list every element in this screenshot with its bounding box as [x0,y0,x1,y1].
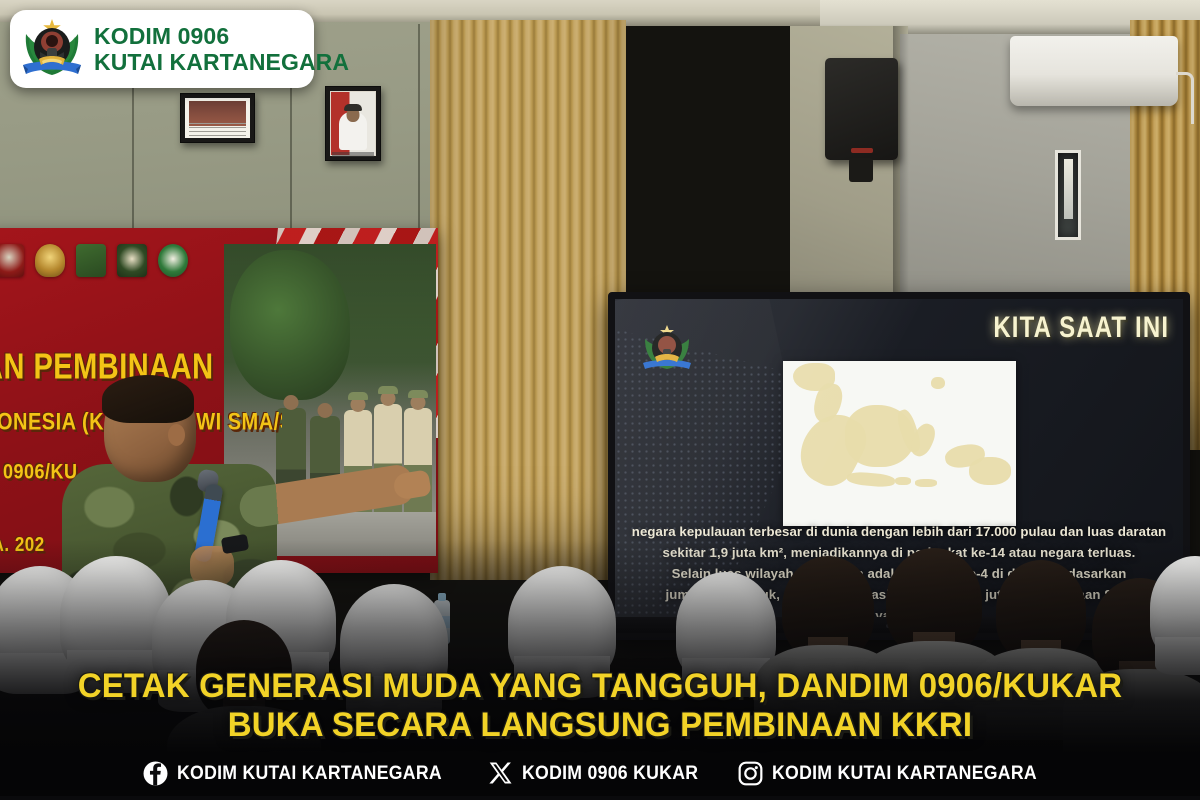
pemkab-logo-icon [158,244,188,277]
slide-title: KITA SAAT INI [993,311,1169,345]
headline-line-1: CETAK GENERASI MUDA YANG TANGGUH, DANDIM… [37,667,1162,706]
map-island-nusa [915,479,937,487]
kodim-logo-badge: KODIM 0906 KUTAI KARTANEGARA [10,10,314,88]
headline-line-2: BUKA SECARA LANGSUNG PEMBINAAN KKRI [37,706,1162,745]
slide-body-line: negara kepulauan terbesar di dunia denga… [625,521,1173,542]
badge-line-2: KUTAI KARTANEGARA [94,49,349,75]
officer-ear [168,424,185,446]
wall-speaker-icon [825,58,898,160]
instagram-handle: KODIM KUTAI KARTANEGARA [772,763,1037,785]
badge-line-1: KODIM 0906 [94,23,349,49]
facebook-handle: KODIM KUTAI KARTANEGARA [177,763,442,785]
student-head-male [886,548,982,656]
aircon-pipe [1176,72,1194,124]
kodam-logo-icon [0,244,24,277]
social-facebook[interactable]: KODIM KUTAI KARTANEGARA [143,761,462,786]
map-island-bali [895,477,911,485]
window-icon [1055,150,1081,240]
portrait-nameplate [332,152,374,157]
indonesia-map-icon [783,361,1016,526]
social-instagram[interactable]: KODIM KUTAI KARTANEGARA [738,761,1057,786]
student-head-male [996,560,1086,662]
tni-emblem-icon [637,319,697,377]
bottom-strip [0,796,1200,800]
student-head-hijab [508,566,616,682]
headline: CETAK GENERASI MUDA YANG TANGGUH, DANDIM… [18,667,1182,745]
screenshot-root: AN PEMBINAAN DONESIA (K SWA SISWI SMA/SM… [0,0,1200,800]
slide-body-line: sekitar 1,9 juta km², menjadikannya di p… [625,542,1173,563]
speaker-mount [849,158,873,182]
wall-seam [418,24,420,250]
banner-logo-row [0,244,188,277]
x-handle: KODIM 0906 KUKAR [522,763,698,785]
instagram-icon[interactable] [738,761,763,786]
tni-ad-logo-icon [35,244,65,277]
wall-seam [290,86,292,246]
wood-slat-panel [430,20,626,580]
facebook-icon[interactable] [143,761,168,786]
korem-logo-icon [76,244,106,277]
banner-cadet-figure [404,408,432,518]
social-x-twitter[interactable]: KODIM 0906 KUKAR [488,761,712,786]
tni-ad-emblem-icon [20,16,84,82]
caption-overlay: CETAK GENERASI MUDA YANG TANGGUH, DANDIM… [0,667,1200,800]
framed-portrait-icon [325,86,381,161]
map-island [931,377,945,389]
certificate-caption-lines [189,123,246,136]
social-media-row: KODIM KUTAI KARTANEGARA KODIM 0906 KUKAR… [0,745,1200,800]
x-twitter-icon[interactable] [488,761,513,786]
kodim-logo-icon [117,244,147,277]
air-conditioner-icon [1010,36,1178,106]
wall-seam [132,86,134,246]
map-island-papua [969,457,1011,485]
framed-certificate-icon [180,93,255,143]
officer-hair [102,375,194,423]
student-head-male [782,556,874,660]
portrait-cap [344,104,362,111]
badge-text-block: KODIM 0906 KUTAI KARTANEGARA [94,23,349,75]
